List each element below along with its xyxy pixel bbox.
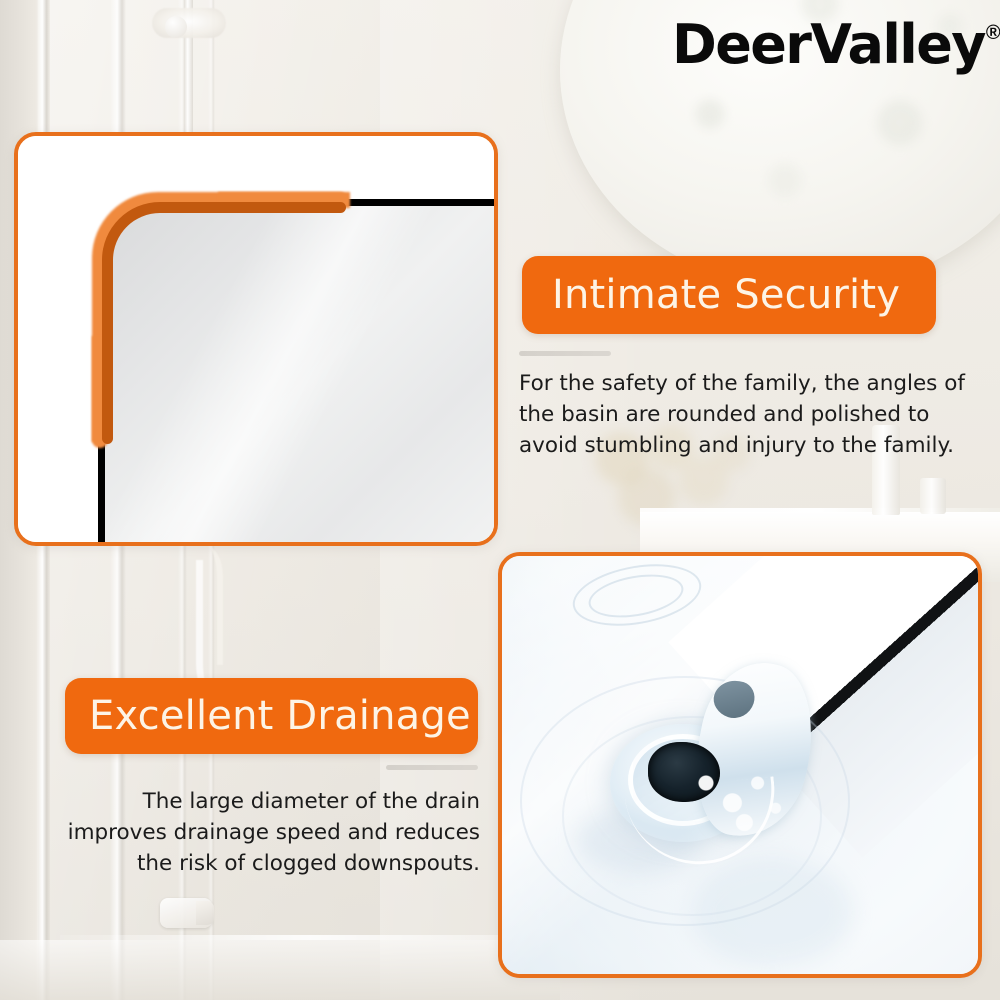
brand-logo: DeerValley ® <box>672 18 1000 72</box>
divider-security <box>519 351 611 356</box>
brand-name: DeerValley <box>672 18 985 72</box>
feature-body-drainage: The large diameter of the drain improves… <box>60 786 480 879</box>
shower-head <box>152 8 226 38</box>
highlight-arc-stroke-left <box>102 336 113 444</box>
feature-body-security: For the safety of the family, the angles… <box>519 368 971 461</box>
basin-edge-left-line <box>98 436 105 546</box>
basin-edge-top-line <box>342 199 498 206</box>
divider-drainage <box>386 765 478 770</box>
drain-photo-stage <box>502 556 978 974</box>
feature-heading-security: Intimate Security <box>552 272 900 318</box>
shower-tray-edge <box>60 935 560 940</box>
highlight-arc-stroke <box>102 202 340 434</box>
shower-tray <box>0 940 560 1000</box>
toiletry-bottle-2 <box>920 478 946 514</box>
feature-image-rounded-corner <box>14 132 498 546</box>
feature-heading-banner-security: Intimate Security <box>522 256 936 334</box>
water-bubbles <box>682 756 802 846</box>
highlight-arc-stroke-top <box>218 202 346 213</box>
feature-image-drain <box>498 552 982 978</box>
feature-heading-drainage: Excellent Drainage <box>89 693 471 739</box>
corner-illustration-stage <box>18 136 494 542</box>
shower-door-handle-inner <box>196 901 214 925</box>
shower-valve-knob <box>165 16 187 38</box>
registered-trademark-icon: ® <box>986 22 1000 45</box>
shower-hose-loop <box>205 545 223 665</box>
feature-heading-banner-drainage: Excellent Drainage <box>65 678 478 754</box>
